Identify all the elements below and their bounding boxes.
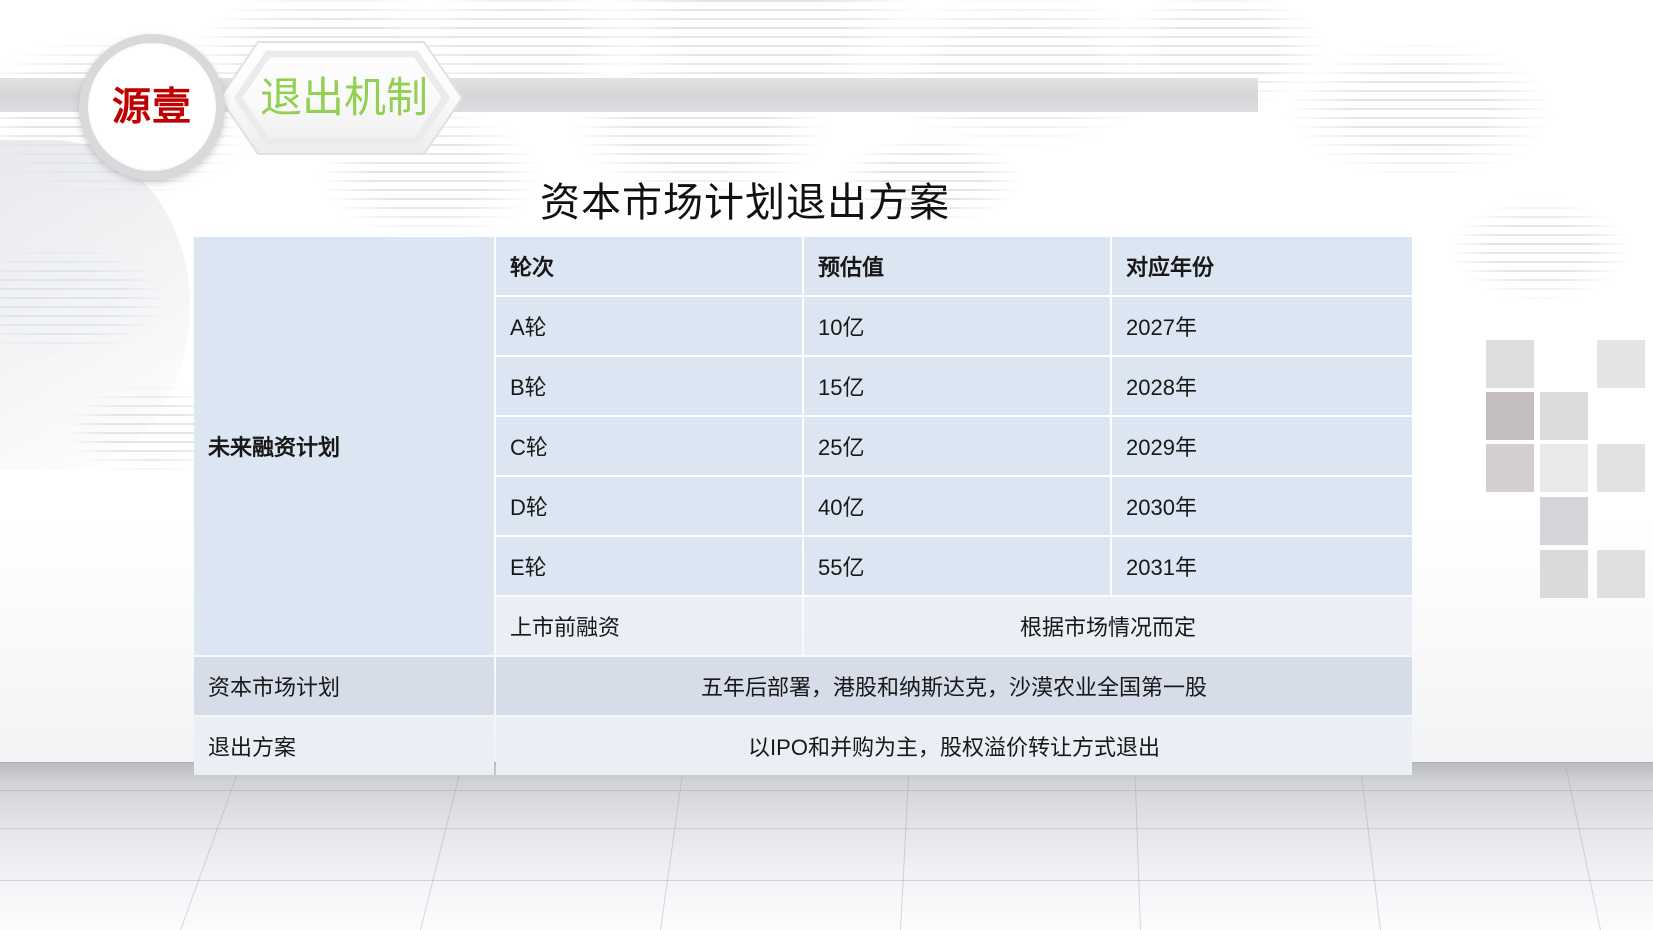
cell-valuation: 25亿 bbox=[804, 417, 1110, 475]
cell-year: 2031年 bbox=[1112, 537, 1412, 595]
cell-exit-plan-value: 以IPO和并购为主，股权溢价转让方式退出 bbox=[496, 717, 1412, 775]
page-title: 资本市场计划退出方案 bbox=[0, 170, 1490, 228]
cell-valuation: 10亿 bbox=[804, 297, 1110, 355]
decorative-square bbox=[1597, 444, 1645, 492]
table-row-capital-plan: 资本市场计划 五年后部署，港股和纳斯达克，沙漠农业全国第一股 bbox=[194, 657, 1412, 715]
floor-grid bbox=[0, 762, 1653, 930]
decorative-square bbox=[1486, 444, 1534, 492]
table-row-exit-plan: 退出方案 以IPO和并购为主，股权溢价转让方式退出 bbox=[194, 717, 1412, 775]
cell-round: E轮 bbox=[496, 537, 802, 595]
cell-valuation: 15亿 bbox=[804, 357, 1110, 415]
column-header-valuation: 预估值 bbox=[804, 237, 1110, 295]
cell-valuation: 55亿 bbox=[804, 537, 1110, 595]
decorative-square bbox=[1486, 340, 1534, 388]
decorative-square bbox=[1597, 550, 1645, 598]
cell-round: A轮 bbox=[496, 297, 802, 355]
decorative-square bbox=[1597, 340, 1645, 388]
cell-pre-ipo-note: 根据市场情况而定 bbox=[804, 597, 1412, 655]
decorative-square bbox=[1540, 550, 1588, 598]
decorative-square bbox=[1540, 392, 1588, 440]
column-header-round: 轮次 bbox=[496, 237, 802, 295]
cell-capital-plan-label: 资本市场计划 bbox=[194, 657, 494, 715]
decorative-square bbox=[1486, 392, 1534, 440]
logo-text: 源壹 bbox=[112, 88, 192, 127]
column-header-year: 对应年份 bbox=[1112, 237, 1412, 295]
table-header-row: 未来融资计划 轮次 预估值 对应年份 bbox=[194, 237, 1412, 295]
cell-round: D轮 bbox=[496, 477, 802, 535]
cell-year: 2029年 bbox=[1112, 417, 1412, 475]
cell-valuation: 40亿 bbox=[804, 477, 1110, 535]
banner-title-text: 退出机制 bbox=[260, 77, 428, 119]
cell-year: 2028年 bbox=[1112, 357, 1412, 415]
cell-exit-plan-label: 退出方案 bbox=[194, 717, 494, 775]
cell-year: 2030年 bbox=[1112, 477, 1412, 535]
cell-year: 2027年 bbox=[1112, 297, 1412, 355]
cell-round: B轮 bbox=[496, 357, 802, 415]
banner-title: 退出机制 bbox=[216, 38, 466, 158]
row-label-financing-plan: 未来融资计划 bbox=[194, 237, 494, 655]
cell-pre-ipo-label: 上市前融资 bbox=[496, 597, 802, 655]
decorative-square bbox=[1540, 444, 1588, 492]
exit-plan-table: 未来融资计划 轮次 预估值 对应年份 A轮 10亿 2027年 B轮 15亿 2… bbox=[192, 235, 1414, 777]
slide: 退出机制 源壹 资本市场计划退出方案 未来融资计划 轮次 预估值 对应年份 A轮… bbox=[0, 0, 1653, 930]
cell-round: C轮 bbox=[496, 417, 802, 475]
logo: 源壹 bbox=[79, 34, 225, 180]
cell-capital-plan-value: 五年后部署，港股和纳斯达克，沙漠农业全国第一股 bbox=[496, 657, 1412, 715]
decorative-square bbox=[1540, 497, 1588, 545]
